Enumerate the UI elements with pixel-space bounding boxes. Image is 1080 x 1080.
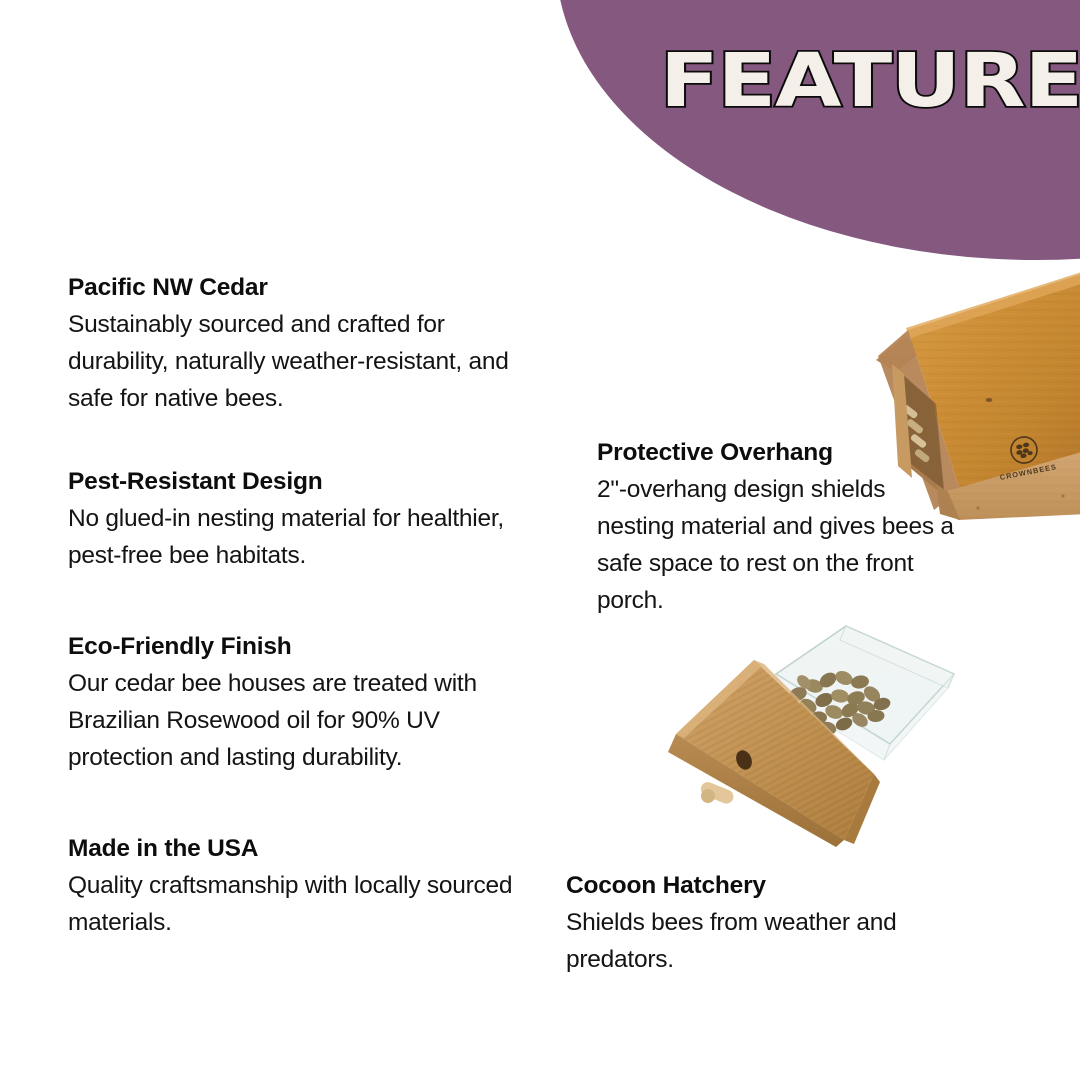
feature-title: Pacific NW Cedar: [68, 272, 538, 303]
feature-block: Protective Overhang 2"-overhang design s…: [597, 437, 969, 619]
feature-block: Pacific NW Cedar Sustainably sourced and…: [68, 272, 538, 417]
feature-infographic-page: FEATURES: [0, 0, 1080, 1080]
feature-body: Quality craftsmanship with locally sourc…: [68, 867, 538, 941]
feature-block: Eco-Friendly Finish Our cedar bee houses…: [68, 631, 538, 776]
right-feature-column-top: Protective Overhang 2"-overhang design s…: [597, 437, 969, 619]
feature-body: Our cedar bee houses are treated with Br…: [68, 665, 538, 776]
left-feature-column: Pacific NW Cedar Sustainably sourced and…: [68, 272, 538, 941]
feature-body: Sustainably sourced and crafted for dura…: [68, 306, 538, 417]
feature-title: Protective Overhang: [597, 437, 969, 468]
feature-block: Pest-Resistant Design No glued-in nestin…: [68, 466, 538, 574]
feature-body: Shields bees from weather and predators.: [566, 904, 966, 978]
feature-body: No glued-in nesting material for healthi…: [68, 500, 538, 574]
feature-block: Made in the USA Quality craftsmanship wi…: [68, 833, 538, 941]
feature-title: Pest-Resistant Design: [68, 466, 538, 497]
feature-title: Eco-Friendly Finish: [68, 631, 538, 662]
hatchery-image: [668, 612, 998, 847]
right-feature-column-bottom: Cocoon Hatchery Shields bees from weathe…: [566, 870, 966, 978]
page-title: FEATURES: [660, 44, 1080, 118]
feature-title: Made in the USA: [68, 833, 538, 864]
wood-knot: [986, 398, 993, 402]
feature-title: Cocoon Hatchery: [566, 870, 966, 901]
feature-block: Cocoon Hatchery Shields bees from weathe…: [566, 870, 966, 978]
feature-body: 2"-overhang design shields nesting mater…: [597, 471, 969, 619]
